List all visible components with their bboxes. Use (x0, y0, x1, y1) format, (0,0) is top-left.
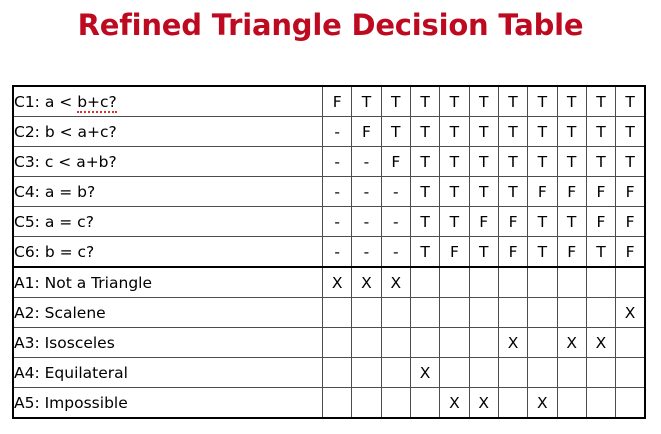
table-row: C5: a = c?---TTFFTTFF (13, 207, 645, 237)
decision-table: C1: a < b+c?FTTTTTTTTTTC2: b < a+c?-FTTT… (12, 85, 646, 419)
condition-label-3: C3: c < a+b? (13, 147, 323, 177)
condition-cell-c2-r3: T (381, 117, 410, 147)
condition-cell-c3-r1: - (323, 147, 352, 177)
action-cell-a3-r5 (440, 328, 469, 358)
condition-cell-c2-r2: F (352, 117, 381, 147)
action-cell-a2-r6 (469, 298, 498, 328)
action-label-2: A2: Scalene (13, 298, 323, 328)
action-cell-a2-r5 (440, 298, 469, 328)
action-cell-a2-r4 (410, 298, 439, 328)
action-cell-a2-r3 (381, 298, 410, 328)
action-label-3: A3: Isosceles (13, 328, 323, 358)
condition-label-2: C2: b < a+c? (13, 117, 323, 147)
condition-cell-c4-r5: T (440, 177, 469, 207)
condition-cell-c5-r6: F (469, 207, 498, 237)
action-cell-a4-r5 (440, 358, 469, 388)
condition-cell-c6-r9: F (557, 237, 586, 268)
action-cell-a3-r7: X (498, 328, 527, 358)
condition-cell-c6-r7: F (498, 237, 527, 268)
table-row: A3: IsoscelesXXX (13, 328, 645, 358)
condition-cell-c5-r9: T (557, 207, 586, 237)
condition-cell-c2-r8: T (528, 117, 557, 147)
table-row: A5: ImpossibleXXX (13, 388, 645, 419)
action-cell-a2-r8 (528, 298, 557, 328)
table-row: C2: b < a+c?-FTTTTTTTTT (13, 117, 645, 147)
table-row: C3: c < a+b?--FTTTTTTTT (13, 147, 645, 177)
table-row: A4: EquilateralX (13, 358, 645, 388)
condition-cell-c6-r11: F (616, 237, 645, 268)
action-cell-a3-r1 (323, 328, 352, 358)
action-cell-a1-r7 (498, 267, 527, 298)
condition-cell-c4-r9: F (557, 177, 586, 207)
condition-label-1: C1: a < b+c? (13, 86, 323, 117)
condition-label-6: C6: b = c? (13, 237, 323, 268)
action-cell-a4-r6 (469, 358, 498, 388)
condition-cell-c1-r11: T (616, 86, 645, 117)
condition-cell-c6-r6: T (469, 237, 498, 268)
action-cell-a4-r10 (586, 358, 615, 388)
condition-cell-c2-r4: T (410, 117, 439, 147)
table-row: C6: b = c?---TFTFTFTF (13, 237, 645, 268)
condition-cell-c2-r1: - (323, 117, 352, 147)
condition-cell-c1-r4: T (410, 86, 439, 117)
action-cell-a4-r7 (498, 358, 527, 388)
condition-cell-c3-r10: T (586, 147, 615, 177)
condition-cell-c1-r2: T (352, 86, 381, 117)
condition-cell-c3-r2: - (352, 147, 381, 177)
condition-cell-c4-r6: T (469, 177, 498, 207)
action-cell-a3-r3 (381, 328, 410, 358)
action-cell-a1-r8 (528, 267, 557, 298)
condition-cell-c5-r8: T (528, 207, 557, 237)
action-cell-a2-r11: X (616, 298, 645, 328)
condition-cell-c6-r10: T (586, 237, 615, 268)
condition-cell-c6-r2: - (352, 237, 381, 268)
action-cell-a1-r9 (557, 267, 586, 298)
condition-cell-c3-r5: T (440, 147, 469, 177)
action-cell-a2-r10 (586, 298, 615, 328)
action-cell-a4-r11 (616, 358, 645, 388)
table-row: C4: a = b?---TTTTFFFF (13, 177, 645, 207)
condition-cell-c2-r6: T (469, 117, 498, 147)
condition-cell-c4-r4: T (410, 177, 439, 207)
action-cell-a1-r11 (616, 267, 645, 298)
condition-cell-c5-r5: T (440, 207, 469, 237)
action-cell-a3-r8 (528, 328, 557, 358)
action-cell-a4-r2 (352, 358, 381, 388)
condition-cell-c1-r3: T (381, 86, 410, 117)
action-cell-a1-r6 (469, 267, 498, 298)
condition-cell-c1-r6: T (469, 86, 498, 117)
condition-cell-c5-r7: F (498, 207, 527, 237)
table-row: C1: a < b+c?FTTTTTTTTTT (13, 86, 645, 117)
condition-label-4: C4: a = b? (13, 177, 323, 207)
condition-cell-c5-r4: T (410, 207, 439, 237)
action-cell-a3-r9: X (557, 328, 586, 358)
condition-label-5: C5: a = c? (13, 207, 323, 237)
condition-cell-c5-r11: F (616, 207, 645, 237)
action-cell-a2-r2 (352, 298, 381, 328)
table-row: A1: Not a TriangleXXX (13, 267, 645, 298)
condition-cell-c4-r7: T (498, 177, 527, 207)
condition-cell-c4-r3: - (381, 177, 410, 207)
condition-cell-c1-r5: T (440, 86, 469, 117)
action-cell-a5-r5: X (440, 388, 469, 419)
condition-cell-c4-r2: - (352, 177, 381, 207)
condition-cell-c4-r10: F (586, 177, 615, 207)
condition-cell-c2-r7: T (498, 117, 527, 147)
action-cell-a3-r11 (616, 328, 645, 358)
condition-cell-c6-r1: - (323, 237, 352, 268)
condition-cell-c3-r4: T (410, 147, 439, 177)
action-cell-a5-r8: X (528, 388, 557, 419)
condition-cell-c6-r3: - (381, 237, 410, 268)
condition-cell-c5-r1: - (323, 207, 352, 237)
action-cell-a1-r3: X (381, 267, 410, 298)
action-cell-a1-r4 (410, 267, 439, 298)
action-cell-a1-r10 (586, 267, 615, 298)
action-cell-a1-r5 (440, 267, 469, 298)
condition-cell-c1-r1: F (323, 86, 352, 117)
action-cell-a5-r2 (352, 388, 381, 419)
condition-cell-c1-r7: T (498, 86, 527, 117)
condition-cell-c4-r1: - (323, 177, 352, 207)
condition-cell-c3-r6: T (469, 147, 498, 177)
action-cell-a3-r4 (410, 328, 439, 358)
condition-cell-c3-r3: F (381, 147, 410, 177)
table-row: A2: ScaleneX (13, 298, 645, 328)
action-cell-a2-r1 (323, 298, 352, 328)
condition-cell-c2-r11: T (616, 117, 645, 147)
action-cell-a4-r8 (528, 358, 557, 388)
condition-cell-c6-r5: F (440, 237, 469, 268)
action-cell-a2-r9 (557, 298, 586, 328)
decision-table-container: C1: a < b+c?FTTTTTTTTTTC2: b < a+c?-FTTT… (12, 85, 646, 419)
action-cell-a1-r2: X (352, 267, 381, 298)
action-cell-a4-r1 (323, 358, 352, 388)
condition-cell-c1-r8: T (528, 86, 557, 117)
condition-cell-c5-r10: F (586, 207, 615, 237)
action-cell-a3-r2 (352, 328, 381, 358)
action-cell-a3-r10: X (586, 328, 615, 358)
action-label-1: A1: Not a Triangle (13, 267, 323, 298)
action-cell-a5-r10 (586, 388, 615, 419)
action-label-5: A5: Impossible (13, 388, 323, 419)
action-cell-a5-r11 (616, 388, 645, 419)
action-cell-a4-r9 (557, 358, 586, 388)
condition-cell-c6-r8: T (528, 237, 557, 268)
action-cell-a5-r1 (323, 388, 352, 419)
slide-canvas: Refined Triangle Decision Table C1: a < … (0, 0, 661, 434)
condition-cell-c5-r2: - (352, 207, 381, 237)
condition-cell-c1-r10: T (586, 86, 615, 117)
action-cell-a1-r1: X (323, 267, 352, 298)
action-cell-a4-r4: X (410, 358, 439, 388)
action-cell-a3-r6 (469, 328, 498, 358)
condition-cell-c3-r9: T (557, 147, 586, 177)
condition-cell-c6-r4: T (410, 237, 439, 268)
condition-cell-c4-r11: F (616, 177, 645, 207)
action-cell-a5-r7 (498, 388, 527, 419)
action-cell-a4-r3 (381, 358, 410, 388)
condition-cell-c5-r3: - (381, 207, 410, 237)
condition-cell-c2-r10: T (586, 117, 615, 147)
action-cell-a2-r7 (498, 298, 527, 328)
condition-cell-c3-r11: T (616, 147, 645, 177)
condition-cell-c3-r8: T (528, 147, 557, 177)
condition-cell-c4-r8: F (528, 177, 557, 207)
condition-cell-c3-r7: T (498, 147, 527, 177)
action-cell-a5-r9 (557, 388, 586, 419)
spellcheck-underlined-text: b+c? (77, 93, 117, 113)
action-cell-a5-r6: X (469, 388, 498, 419)
condition-cell-c2-r5: T (440, 117, 469, 147)
action-cell-a5-r4 (410, 388, 439, 419)
condition-cell-c1-r9: T (557, 86, 586, 117)
condition-cell-c2-r9: T (557, 117, 586, 147)
label-text-plain: C1: a < (14, 93, 77, 111)
action-cell-a5-r3 (381, 388, 410, 419)
action-label-4: A4: Equilateral (13, 358, 323, 388)
page-title: Refined Triangle Decision Table (0, 8, 661, 42)
